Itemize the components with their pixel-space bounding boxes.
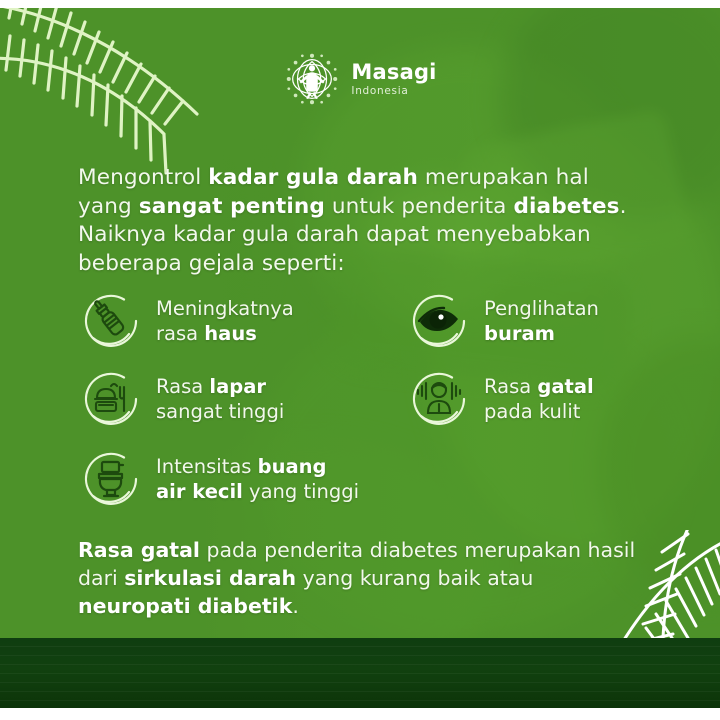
meal-food-icon	[80, 368, 142, 430]
eye-icon	[408, 290, 470, 352]
brand-logo: Masagi Indonesia	[0, 50, 720, 108]
itchy-skin-person-icon	[408, 368, 470, 430]
symptom-label: Rasa gatalpada kulit	[484, 374, 594, 425]
bottom-bar	[0, 638, 720, 708]
toilet-icon	[80, 448, 142, 510]
symptom-item-haus: Meningkatnyarasa haus	[80, 290, 294, 352]
symptom-label: Rasa laparsangat tinggi	[156, 374, 284, 425]
symptom-label: Intensitas buangair kecil yang tinggi	[156, 454, 359, 505]
baby-bottle-icon	[80, 290, 142, 352]
masagi-mandala-figure-logo	[283, 50, 341, 108]
poster-canvas: Masagi Indonesia Mengontrol kadar gula d…	[0, 8, 720, 708]
symptom-label: Penglihatanburam	[484, 296, 599, 347]
symptom-item-lapar: Rasa laparsangat tinggi	[80, 368, 284, 430]
poster-root: Masagi Indonesia Mengontrol kadar gula d…	[0, 0, 720, 720]
symptom-label: Meningkatnyarasa haus	[156, 296, 294, 347]
symptom-item-buram: Penglihatanburam	[408, 290, 599, 352]
brand-name: Masagi	[351, 62, 436, 83]
brand-subtitle: Indonesia	[351, 86, 436, 97]
symptom-item-buang-air-kecil: Intensitas buangair kecil yang tinggi	[80, 448, 359, 510]
symptom-item-gatal: Rasa gatalpada kulit	[408, 368, 594, 430]
outro-paragraph: Rasa gatal pada penderita diabetes merup…	[78, 537, 638, 621]
intro-paragraph: Mengontrol kadar gula darah merupakan ha…	[78, 164, 648, 279]
